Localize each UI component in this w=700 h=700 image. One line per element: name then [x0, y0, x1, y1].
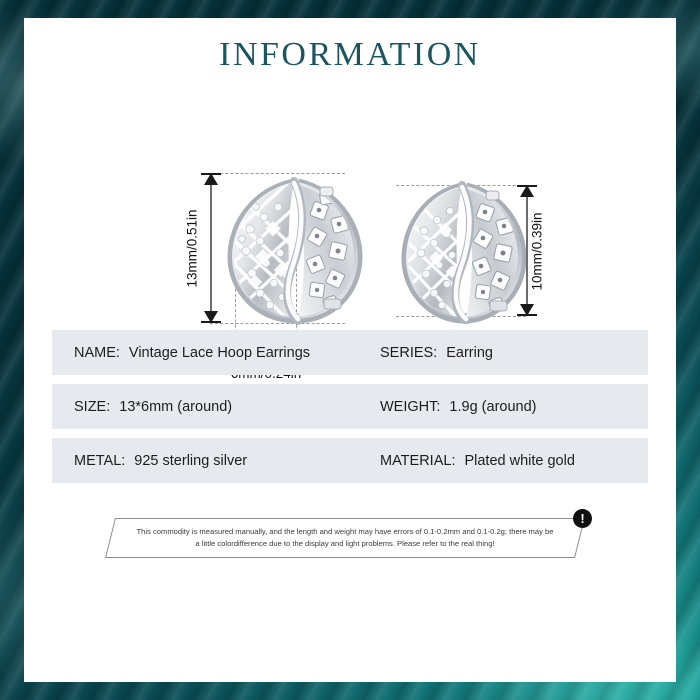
spec-value: Vintage Lace Hoop Earrings	[129, 345, 310, 361]
spec-cell-series: SERIES: Earring	[374, 345, 493, 361]
poster-frame: INFORMATION	[0, 0, 700, 700]
spec-value: Plated white gold	[464, 453, 574, 469]
arrow-shaft	[210, 180, 212, 316]
dimension-label-height-right: 10mm/0.39in	[530, 192, 545, 312]
table-row: SIZE: 13*6mm (around) WEIGHT: 1.9g (arou…	[52, 384, 648, 429]
arrowhead-up	[204, 173, 218, 185]
earring-left	[220, 173, 370, 325]
dimension-label-height-left: 13mm/0.51in	[185, 189, 200, 309]
spec-key: MATERIAL:	[380, 453, 455, 469]
spec-key: NAME:	[74, 345, 120, 361]
spec-key: SIZE:	[74, 399, 110, 415]
spec-cell-name: NAME: Vintage Lace Hoop Earrings	[52, 345, 374, 361]
spec-value: 925 sterling silver	[134, 453, 247, 469]
spec-cell-metal: METAL: 925 sterling silver	[52, 453, 374, 469]
white-page-panel: INFORMATION	[24, 18, 676, 682]
specification-table: NAME: Vintage Lace Hoop Earrings SERIES:…	[52, 330, 648, 492]
spec-cell-weight: WEIGHT: 1.9g (around)	[374, 399, 536, 415]
disclaimer-text: This commodity is measured manually, and…	[110, 518, 580, 558]
spec-cell-size: SIZE: 13*6mm (around)	[52, 399, 374, 415]
arrow-cap-bottom	[517, 314, 537, 316]
spec-value: 1.9g (around)	[449, 399, 536, 415]
spec-key: WEIGHT:	[380, 399, 440, 415]
arrow-cap-bottom	[201, 321, 221, 323]
dimension-arrow-height-left	[202, 173, 220, 323]
spec-key: METAL:	[74, 453, 125, 469]
exclamation-icon: !	[573, 509, 592, 528]
disclaimer-banner: This commodity is measured manually, and…	[110, 518, 580, 558]
table-row: METAL: 925 sterling silver MATERIAL: Pla…	[52, 438, 648, 483]
arrow-shaft	[526, 192, 528, 309]
spec-cell-material: MATERIAL: Plated white gold	[374, 453, 575, 469]
earring-right	[398, 179, 530, 324]
table-row: NAME: Vintage Lace Hoop Earrings SERIES:…	[52, 330, 648, 375]
spec-value: Earring	[446, 345, 493, 361]
page-title: INFORMATION	[24, 36, 676, 74]
spec-value: 13*6mm (around)	[119, 399, 232, 415]
spec-key: SERIES:	[380, 345, 437, 361]
